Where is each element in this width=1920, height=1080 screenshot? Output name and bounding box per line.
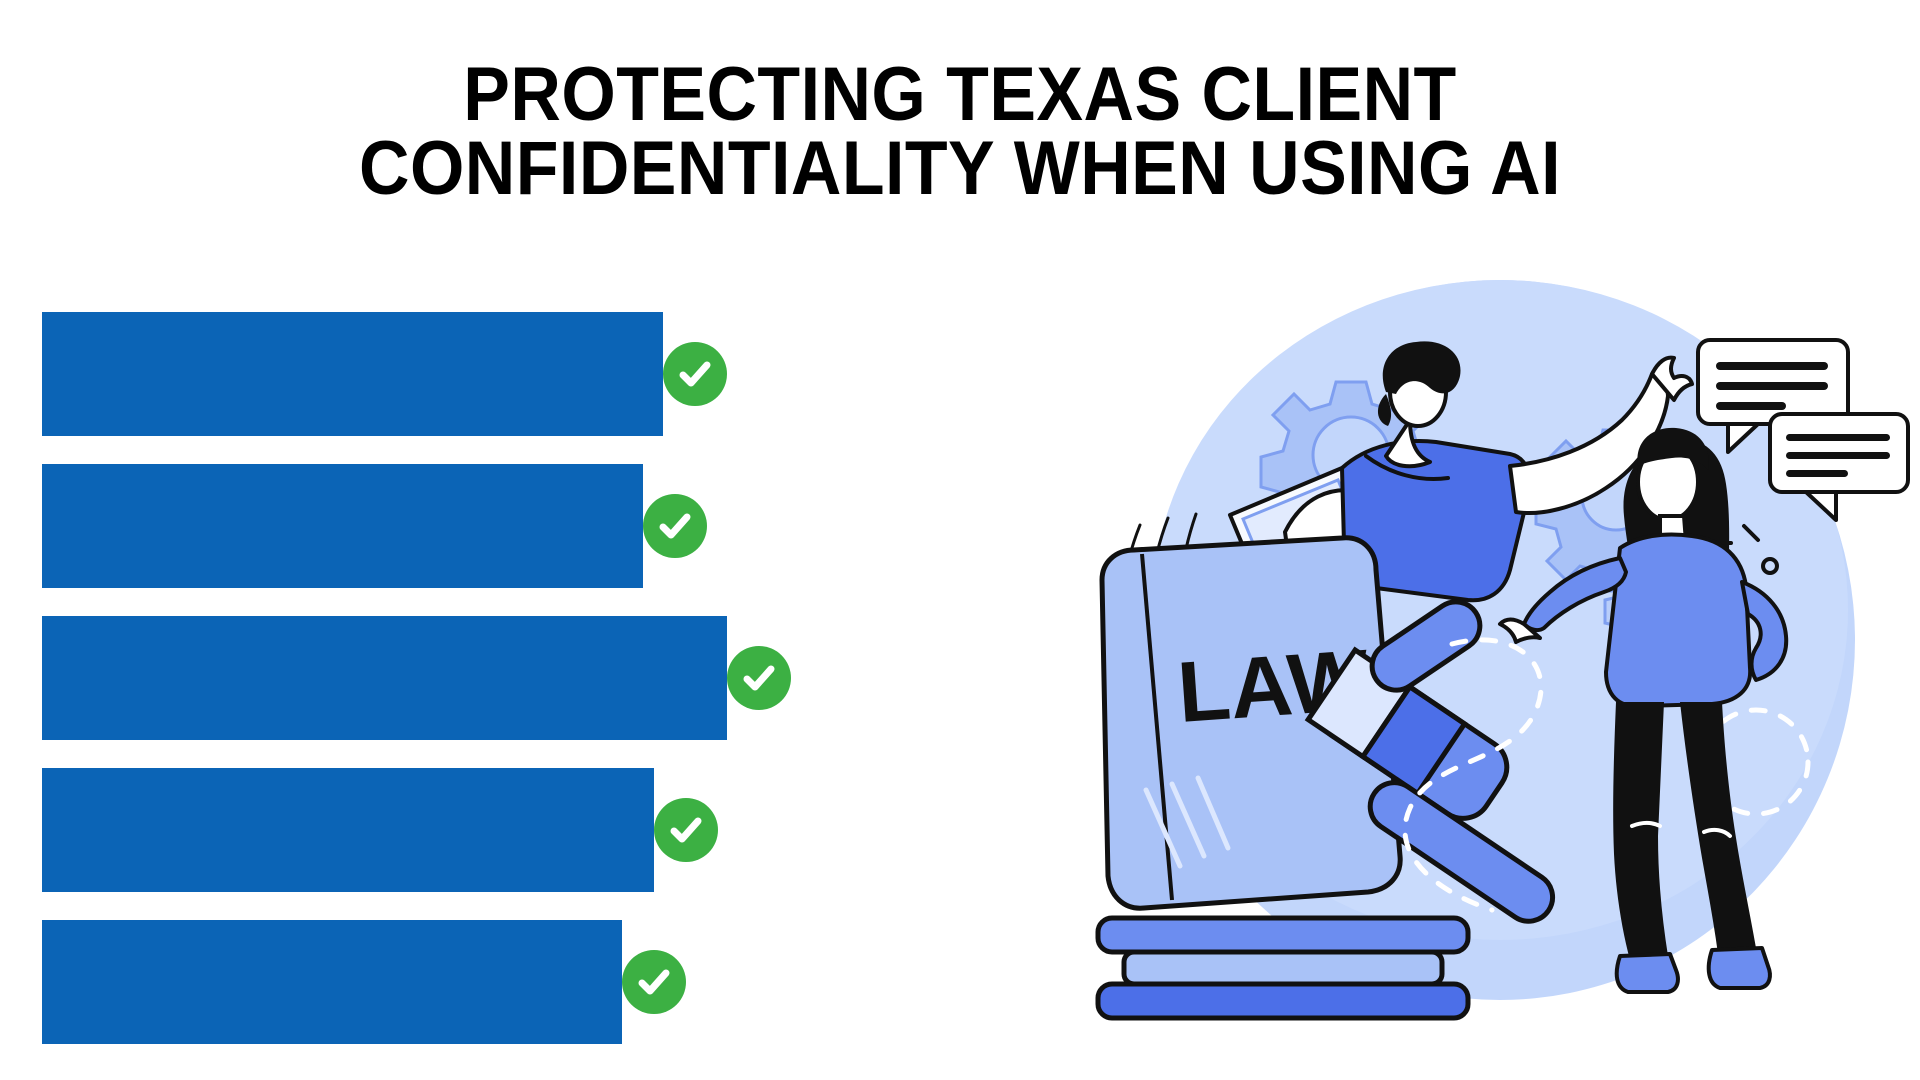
list-item[interactable]: CLEARBRIEF'S SECURE FEATURES SUPPORT CON… bbox=[0, 920, 1100, 1044]
check-circle-icon bbox=[654, 798, 718, 862]
check-circle-icon bbox=[622, 950, 686, 1014]
ai-law-confidentiality-illustration: LAW bbox=[1080, 270, 1920, 1080]
page-title: PROTECTING TEXAS CLIENT CONFIDENTIALITY … bbox=[0, 58, 1920, 207]
list-item-label: TRAIN ALL STAFF ON CONFIDENTIALITY PROTO… bbox=[735, 441, 1082, 611]
list-item-label: CLEARBRIEF'S SECURE FEATURES SUPPORT CON… bbox=[714, 876, 1081, 1080]
list-item[interactable]: IMPLEMENT REGULAR AUDITS OF AI USAGE bbox=[0, 768, 1100, 892]
title-line-1: PROTECTING TEXAS CLIENT bbox=[77, 58, 1843, 132]
bar-shape bbox=[42, 616, 727, 740]
list-item[interactable]: REVIEW AI PROVIDERS' DATA SECURITY POLIC… bbox=[0, 312, 1100, 436]
list-item[interactable]: TRAIN ALL STAFF ON CONFIDENTIALITY PROTO… bbox=[0, 464, 1100, 588]
checklist: REVIEW AI PROVIDERS' DATA SECURITY POLIC… bbox=[0, 312, 1100, 1072]
bar-shape bbox=[42, 464, 643, 588]
bar-shape bbox=[42, 920, 622, 1044]
gavel-base bbox=[1098, 918, 1468, 1018]
title-line-2: CONFIDENTIALITY WHEN USING AI bbox=[77, 132, 1843, 206]
list-item-label: CONSIDER CREATING GUIDANCE bbox=[819, 614, 1086, 741]
infographic-canvas: PROTECTING TEXAS CLIENT CONFIDENTIALITY … bbox=[0, 0, 1920, 1080]
list-item[interactable]: CONSIDER CREATING GUIDANCE bbox=[0, 616, 1100, 740]
bar-shape bbox=[42, 312, 663, 436]
check-circle-icon bbox=[643, 494, 707, 558]
check-circle-icon bbox=[663, 342, 727, 406]
bar-shape bbox=[42, 768, 654, 892]
check-circle-icon bbox=[727, 646, 791, 710]
